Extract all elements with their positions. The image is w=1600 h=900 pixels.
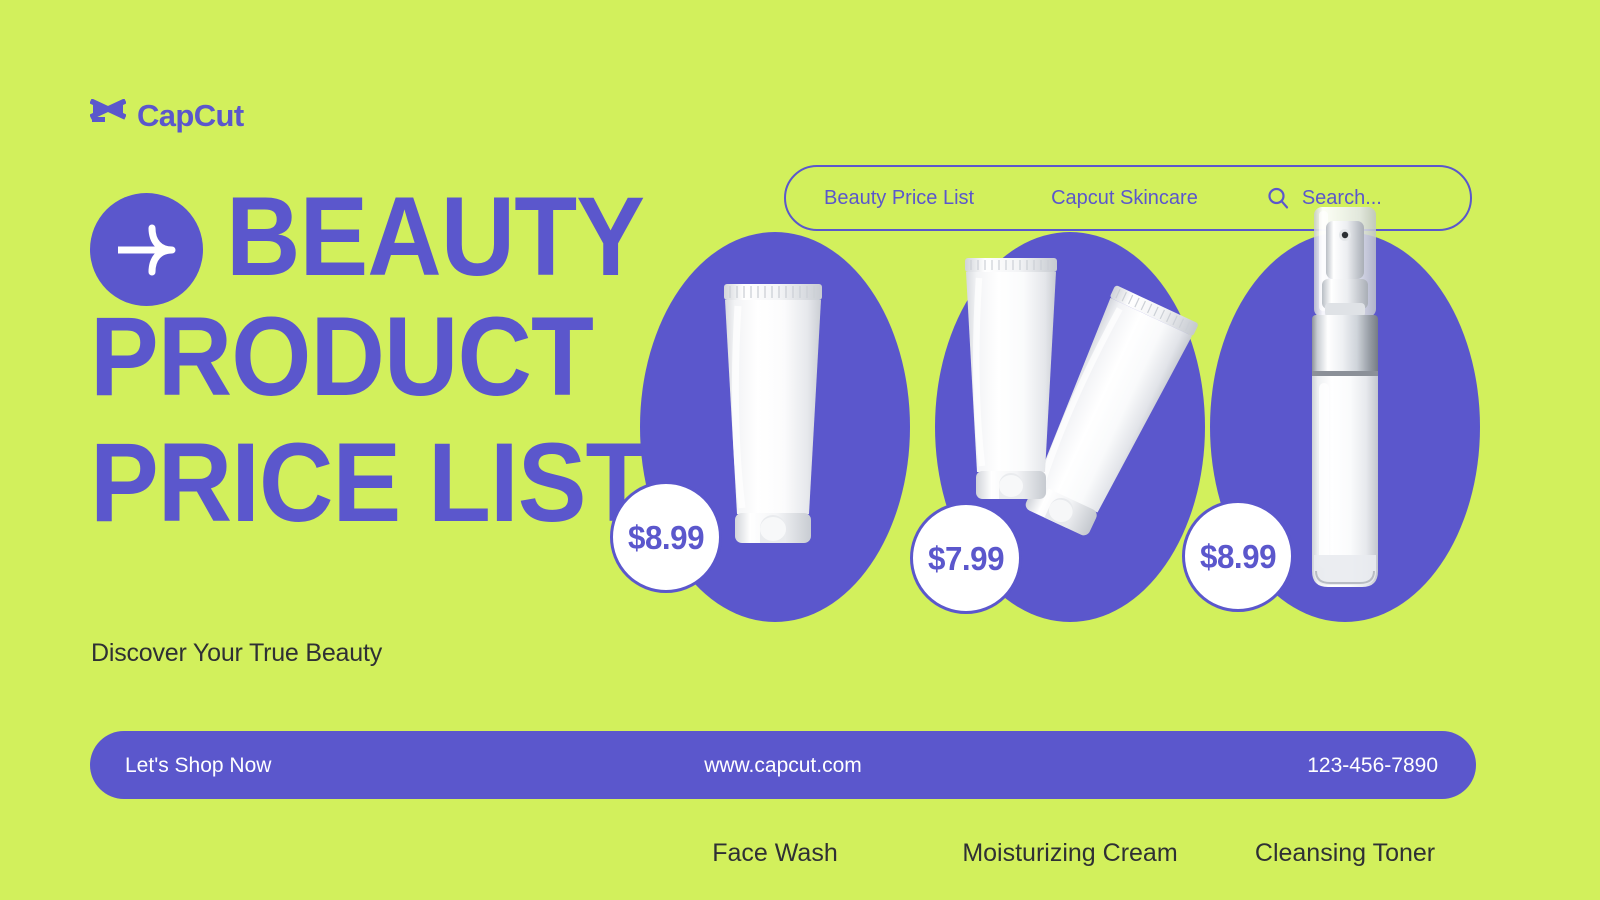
- price-badge-cleansing-toner: $8.99: [1182, 500, 1294, 612]
- footer-phone[interactable]: 123-456-7890: [1307, 755, 1438, 776]
- cosmetic-tube-image: [708, 282, 838, 567]
- pump-bottle-image: [1300, 203, 1390, 603]
- product-showcase: $8.99 Face Wash: [600, 200, 1540, 690]
- hero-tagline: Discover Your True Beauty: [91, 641, 382, 666]
- cosmetic-tube-image-upright: [952, 256, 1070, 521]
- headline-line-1: BEAUTY: [226, 190, 644, 284]
- headline-row-1: BEAUTY: [90, 190, 650, 298]
- poster-canvas: CapCut Beauty Price List Capcut Skincare…: [0, 0, 1600, 900]
- price-value: $8.99: [628, 521, 704, 554]
- price-badge-moisturizing-cream: $7.99: [910, 502, 1022, 614]
- footer-cta-label[interactable]: Let's Shop Now: [125, 755, 271, 776]
- headline-line-2: PRODUCT: [90, 310, 605, 404]
- product-label-cleansing-toner: Cleansing Toner: [1170, 841, 1520, 866]
- arrow-right-icon: [90, 193, 203, 306]
- footer-website[interactable]: www.capcut.com: [704, 755, 862, 776]
- page-header: CapCut Beauty Price List Capcut Skincare…: [0, 82, 1600, 152]
- price-value: $8.99: [1200, 540, 1276, 573]
- footer-bar: Let's Shop Now www.capcut.com 123-456-78…: [90, 731, 1476, 799]
- headline-line-3: PRICE LIST: [90, 436, 605, 530]
- hero-headline-block: BEAUTY PRODUCT PRICE LIST: [90, 190, 650, 530]
- price-value: $7.99: [928, 542, 1004, 575]
- brand-name: CapCut: [137, 100, 244, 131]
- price-badge-face-wash: $8.99: [610, 481, 722, 593]
- brand-logo-group[interactable]: CapCut: [90, 82, 244, 148]
- capcut-logo-icon: [90, 99, 126, 131]
